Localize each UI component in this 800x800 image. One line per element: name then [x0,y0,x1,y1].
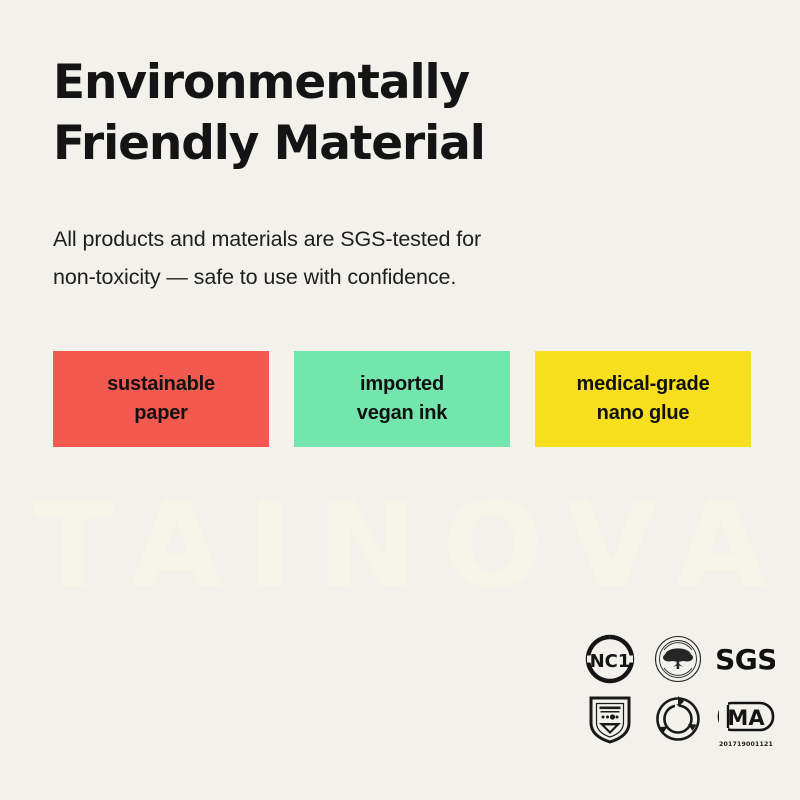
badge-label-line-2: paper [134,402,187,425]
brand-watermark-text: TAINOVA [7,486,792,604]
fsc-tree-seal-logo [648,631,708,687]
badge-sustainable-paper: sustainable paper [53,351,269,447]
badge-label-line-1: medical-grade [576,373,709,396]
badge-medical-grade-nano-glue: medical-grade nano glue [535,351,751,447]
material-badge-list: sustainable paper imported vegan ink med… [53,351,800,447]
recycling-symbol-logo [648,691,708,747]
badge-label-line-2: nano glue [597,402,690,425]
cma-certification-logo: MA 201719001121 [716,691,776,747]
page-title-line-2: Friendly Material [53,113,573,174]
shield-quality-badge-logo [580,691,640,747]
svg-text:NC1: NC1 [590,651,631,672]
brand-watermark: TAINOVA [0,487,800,602]
badge-label-line-1: sustainable [107,373,215,396]
nc1-certification-logo: NC1 [580,631,640,687]
cma-certificate-number: 201719001121 [719,741,773,748]
badge-imported-vegan-ink: imported vegan ink [294,351,510,447]
page-description-line-2: non-toxicity — safe to use with confiden… [53,259,800,297]
content-area: Environmentally Friendly Material All pr… [0,0,800,447]
page-title: Environmentally Friendly Material [53,0,573,174]
svg-text:MA: MA [727,706,765,730]
certification-logo-grid: NC1 SGS [578,630,778,748]
page-title-line-1: Environmentally [53,52,573,113]
page-description: All products and materials are SGS-teste… [53,221,800,296]
badge-label-line-1: imported [360,373,444,396]
svg-text:SGS: SGS [717,643,775,676]
page-description-line-1: All products and materials are SGS-teste… [53,221,800,259]
sgs-certification-logo: SGS [716,631,776,687]
badge-label-line-2: vegan ink [357,402,447,425]
